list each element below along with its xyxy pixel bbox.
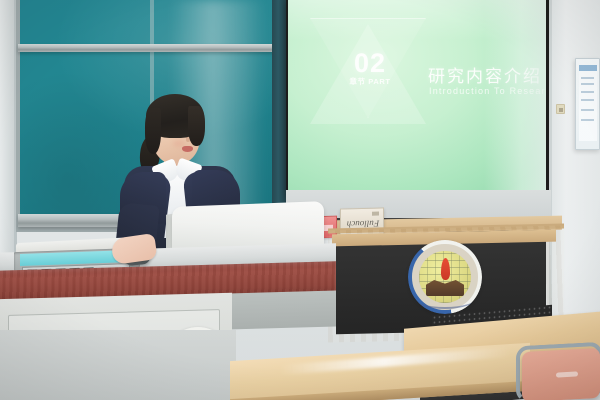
classroom-presentation-photo: 02 章节 PART 研究内容介绍 Introduction To Resear… [0, 0, 600, 400]
notice-document [579, 65, 597, 141]
screen-side-glare [484, 0, 546, 190]
projection-screen: 02 章节 PART 研究内容介绍 Introduction To Resear… [288, 0, 546, 190]
floor [0, 330, 236, 400]
power-outlet[interactable] [556, 104, 565, 114]
console-desk-side [228, 290, 336, 329]
hair-right-side [188, 106, 205, 146]
chalkboard-rail-top [18, 44, 288, 52]
notice-header-bar [579, 65, 597, 71]
university-emblem [408, 240, 482, 314]
wall-notice-board [575, 58, 600, 150]
box-mark [372, 212, 379, 216]
slide-section-label: 章节 PART [338, 76, 402, 87]
slide-section-number: 02 [342, 48, 398, 79]
hair-left-side [145, 108, 161, 154]
mouth [182, 146, 193, 152]
